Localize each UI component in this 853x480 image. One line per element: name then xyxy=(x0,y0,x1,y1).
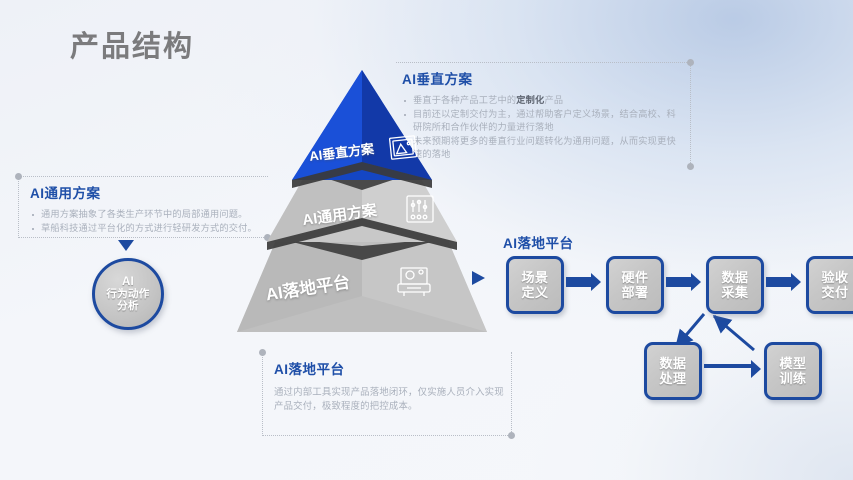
bullet-strong: 定制化 xyxy=(516,95,544,105)
node-line2: 处理 xyxy=(659,371,686,386)
callout-title: AI通用方案 xyxy=(30,182,268,202)
node-line1: 模型 xyxy=(779,356,806,371)
ai-circle-line3: 分析 xyxy=(117,300,139,312)
triangle-down-icon xyxy=(118,240,134,251)
node-line2: 交付 xyxy=(821,285,848,300)
arrow-right-icon xyxy=(472,271,485,285)
node-line1: 数据 xyxy=(721,270,748,285)
callout-ai-general-solution: AI通用方案 通用方案抽象了各类生产环节中的局部通用问题。 草船科技通过平台化的… xyxy=(18,176,268,238)
bullet-text: 通用方案抽象了各类生产环节中的局部通用问题。 xyxy=(41,209,248,219)
bullet-text: 草船科技通过平台化的方式进行轻研发方式的交付。 xyxy=(41,223,257,233)
node-line2: 采集 xyxy=(721,285,748,300)
node-line1: 场景 xyxy=(521,270,548,285)
resize-handle-top-right[interactable] xyxy=(687,59,694,66)
flow-node-hardware-deployment[interactable]: 硬件 部署 xyxy=(606,256,664,314)
flow-arrow-4 xyxy=(704,364,752,368)
list-item: 通用方案抽象了各类生产环节中的局部通用问题。 xyxy=(30,208,262,221)
list-item: 草船科技通过平台化的方式进行轻研发方式的交付。 xyxy=(30,222,262,235)
resize-handle-bottom-right[interactable] xyxy=(508,432,515,439)
flow-node-data-collection[interactable]: 数据 采集 xyxy=(706,256,764,314)
equalizer-sliders-icon xyxy=(405,194,435,224)
flow-node-acceptance-delivery[interactable]: 验收 交付 xyxy=(806,256,853,314)
pyramid-diagram: AI落地平台 AI通用方案 xyxy=(237,70,487,332)
callout-paragraph: 通过内部工具实现产品落地闭环，仅实施人员介入实现产品交付，极致程度的把控成本。 xyxy=(274,385,504,413)
node-line1: 验收 xyxy=(821,270,848,285)
bullet-text-post: 产品 xyxy=(544,95,563,105)
slide-canvas: 产品结构 AI垂直方案 垂直于各种产品工艺中的定制化产品 目前还以定制交付为主，… xyxy=(0,0,853,480)
flow-arrow-1 xyxy=(566,277,592,287)
page-title: 产品结构 xyxy=(70,23,194,65)
callout-ai-landing-platform: AI落地平台 通过内部工具实现产品落地闭环，仅实施人员介入实现产品交付，极致程度… xyxy=(262,352,512,436)
flow-node-scene-definition[interactable]: 场景 定义 xyxy=(506,256,564,314)
node-line1: 硬件 xyxy=(621,270,648,285)
pyramid-layer-shape xyxy=(292,70,432,190)
node-line1: 数据 xyxy=(659,356,686,371)
resize-handle-top-left[interactable] xyxy=(259,349,266,356)
flow-arrow-3 xyxy=(766,277,792,287)
picture-frame-icon xyxy=(388,132,418,162)
callout-bullet-list: 通用方案抽象了各类生产环节中的局部通用问题。 草船科技通过平台化的方式进行轻研发… xyxy=(30,208,262,235)
flow-arrow-2 xyxy=(666,277,692,287)
ai-circle-line2: 行为动作 xyxy=(106,288,149,300)
flow-chart: AI落地平台 场景 定义 硬件 部署 数据 采集 验 xyxy=(496,232,846,392)
pyramid-layer-vertical-solution[interactable]: AI垂直方案 xyxy=(237,70,487,190)
resize-handle-top-left[interactable] xyxy=(15,173,22,180)
ai-behavior-analysis-circle[interactable]: AI 行为动作 分析 xyxy=(92,258,164,330)
resize-handle-bottom-right[interactable] xyxy=(687,163,694,170)
ai-circle-line1: AI xyxy=(122,276,134,288)
node-line2: 训练 xyxy=(779,371,806,386)
node-line2: 定义 xyxy=(521,285,548,300)
node-line2: 部署 xyxy=(621,285,648,300)
callout-title: AI落地平台 xyxy=(274,358,512,378)
printer-device-icon xyxy=(397,266,431,298)
flow-node-data-processing[interactable]: 数据 处理 xyxy=(644,342,702,400)
flow-node-model-training[interactable]: 模型 训练 xyxy=(764,342,822,400)
flow-chart-title: AI落地平台 xyxy=(503,232,574,252)
